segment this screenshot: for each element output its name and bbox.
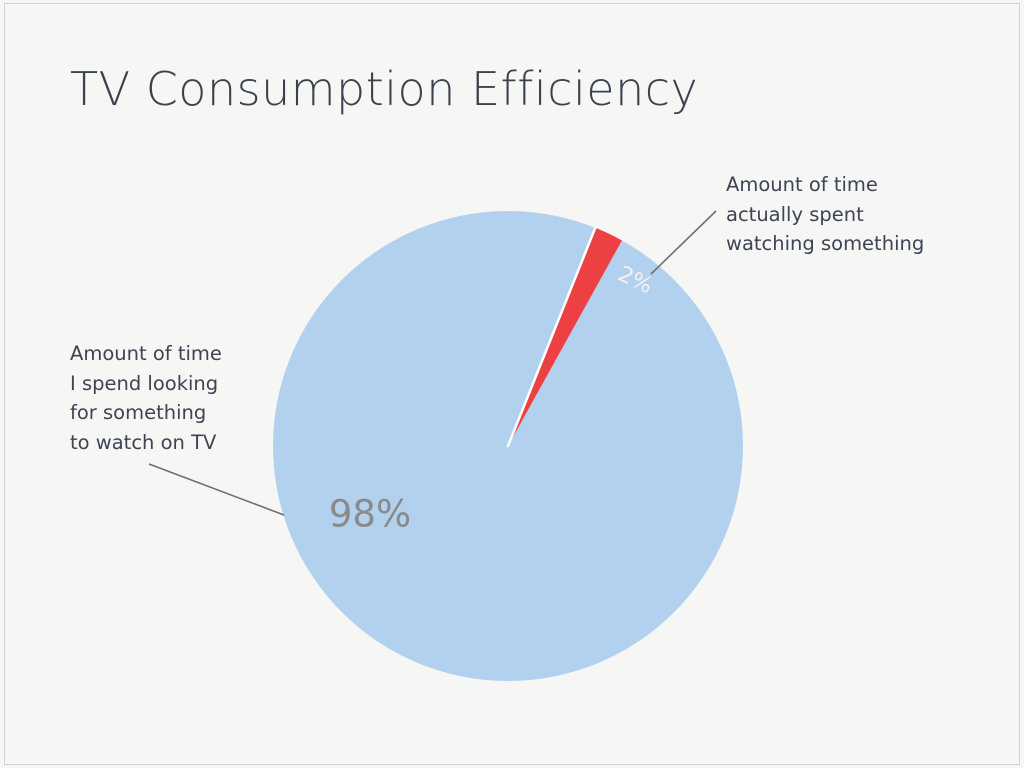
callout-label-actually-watching: Amount of time actually spent watching s… xyxy=(726,170,924,259)
callout-left-line-3: for something xyxy=(70,398,222,428)
leader-line-right xyxy=(651,211,716,274)
callout-left-line-2: I spend looking xyxy=(70,369,222,399)
callout-right-line-3: watching something xyxy=(726,229,924,259)
callout-left-line-4: to watch on TV xyxy=(70,428,222,458)
callout-label-looking-for-something: Amount of time I spend looking for somet… xyxy=(70,339,222,457)
leader-line-left xyxy=(149,464,284,515)
slice-value-98: 98% xyxy=(329,493,411,536)
callout-right-line-2: actually spent xyxy=(726,200,924,230)
callout-left-line-1: Amount of time xyxy=(70,339,222,369)
slide-canvas: TV Consumption Efficiency 98% 2% Amount … xyxy=(0,0,1024,768)
callout-right-line-1: Amount of time xyxy=(726,170,924,200)
